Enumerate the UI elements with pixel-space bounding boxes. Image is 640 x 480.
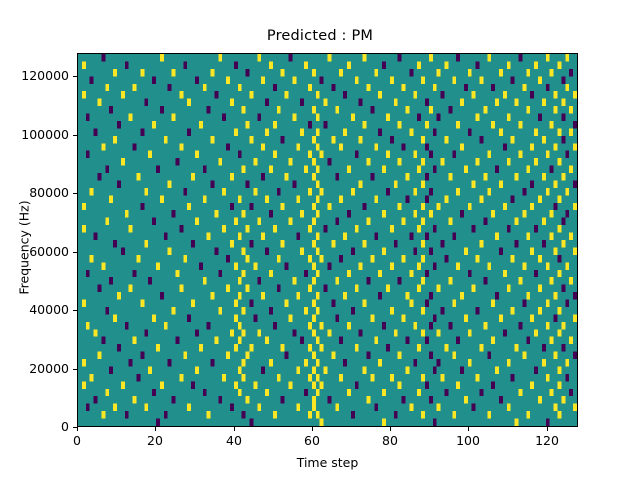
y-tick-label: 100000 — [3, 127, 69, 142]
y-tick-mark — [73, 369, 77, 370]
x-tick-mark — [390, 427, 391, 431]
y-tick-mark — [73, 193, 77, 194]
chart-title: Predicted : PM — [0, 28, 640, 44]
y-tick-mark — [73, 252, 77, 253]
x-axis-label: Time step — [77, 455, 578, 470]
x-tick-mark — [234, 427, 235, 431]
y-tick-label: 20000 — [3, 361, 69, 376]
heatmap-axes — [77, 53, 578, 427]
x-tick-mark — [468, 427, 469, 431]
heatmap-grid — [78, 54, 577, 426]
y-tick-label: 0 — [3, 419, 69, 434]
x-tick-label: 120 — [517, 433, 577, 448]
y-tick-mark — [73, 310, 77, 311]
matplotlib-figure: Predicted : PM Time step Frequency (Hz) … — [0, 0, 640, 480]
y-tick-mark — [73, 135, 77, 136]
x-tick-label: 60 — [282, 433, 342, 448]
x-tick-label: 20 — [125, 433, 185, 448]
x-tick-mark — [312, 427, 313, 431]
y-tick-mark — [73, 76, 77, 77]
x-tick-mark — [77, 427, 78, 431]
x-tick-label: 100 — [438, 433, 498, 448]
heatmap-canvas — [78, 54, 577, 426]
x-tick-label: 0 — [47, 433, 107, 448]
y-tick-label: 60000 — [3, 244, 69, 259]
y-tick-label: 40000 — [3, 302, 69, 317]
y-tick-mark — [73, 427, 77, 428]
x-tick-label: 40 — [204, 433, 264, 448]
y-tick-label: 80000 — [3, 185, 69, 200]
y-tick-label: 120000 — [3, 68, 69, 83]
x-tick-label: 80 — [360, 433, 420, 448]
x-tick-mark — [547, 427, 548, 431]
x-tick-mark — [155, 427, 156, 431]
